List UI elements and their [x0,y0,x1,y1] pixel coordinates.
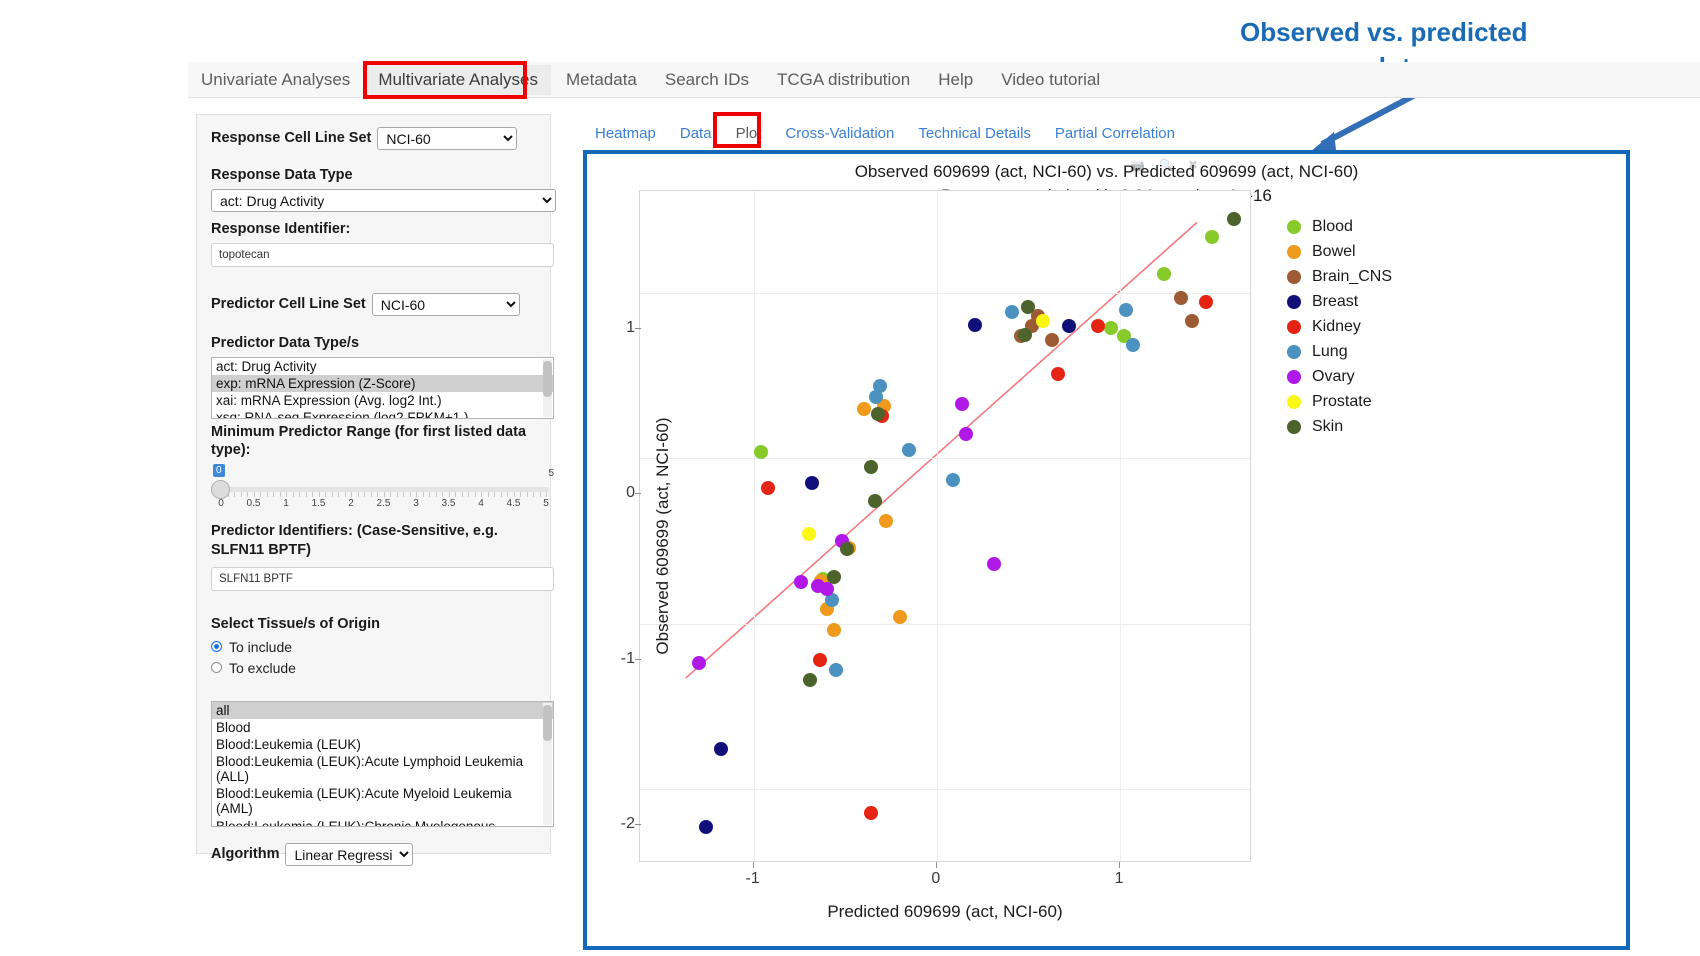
slider-tick-label: 1.5 [312,498,326,509]
scatter-point[interactable] [1185,314,1199,328]
legend-item-bowel[interactable]: Bowel [1287,239,1507,264]
y-axis-tick: 0 [626,484,635,502]
predictor-identifiers-input[interactable] [211,567,554,591]
scatter-point[interactable] [893,610,907,624]
y-axis-tickmark [635,493,641,494]
subtab-plot[interactable]: Plot [724,122,774,145]
scatter-point[interactable] [1157,267,1171,281]
chart-title: Observed 609699 (act, NCI-60) vs. Predic… [855,162,1359,181]
radio-to-include[interactable]: To include [211,639,536,655]
scatter-point[interactable] [803,673,817,687]
min-predictor-range-label: Minimum Predictor Range (for first liste… [211,423,536,461]
scatter-point[interactable] [1119,303,1133,317]
x-axis-tickmark [1119,862,1120,868]
scatter-point[interactable] [1045,333,1059,347]
legend-swatch [1287,370,1301,384]
legend-label: Bowel [1312,243,1356,261]
gridline-horizontal [640,293,1250,294]
legend-swatch [1287,295,1301,309]
x-axis-tick: 0 [931,870,940,888]
response-cell-line-set-label: Response Cell Line Set [211,129,371,148]
legend-swatch [1287,245,1301,259]
scatter-point[interactable] [1021,300,1035,314]
scatter-point[interactable] [1091,319,1105,333]
slider-tick-label: 3.5 [442,498,456,509]
legend-item-lung[interactable]: Lung [1287,339,1507,364]
nav-item-metadata[interactable]: Metadata [553,65,650,95]
subtab-partial-correlation[interactable]: Partial Correlation [1043,122,1187,145]
list-item[interactable]: all [212,702,553,719]
scatter-point[interactable] [794,575,808,589]
scatter-point[interactable] [955,397,969,411]
list-item[interactable]: act: Drug Activity [212,358,553,375]
scatter-point[interactable] [1036,314,1050,328]
nav-item-help[interactable]: Help [925,65,986,95]
subtab-data[interactable]: Data [668,122,724,145]
scatter-point[interactable] [754,445,768,459]
algorithm-select[interactable]: Linear Regression [285,843,413,866]
scatter-point[interactable] [827,570,841,584]
nav-item-univariate-analyses[interactable]: Univariate Analyses [188,65,363,95]
scatter-point[interactable] [1174,291,1188,305]
subtab-heatmap[interactable]: Heatmap [583,122,668,145]
radio-exclude-icon [211,662,222,673]
chart-legend[interactable]: BloodBowelBrain_CNSBreastKidneyLungOvary… [1287,214,1507,439]
scatter-point[interactable] [1205,230,1219,244]
scatter-point[interactable] [1062,319,1076,333]
slider-tick-label: 4 [478,498,484,509]
slider-tick-label: 1 [283,498,289,509]
slider-value-bubble: 0 [213,464,225,477]
scatter-point[interactable] [1227,212,1241,226]
radio-exclude-label: To exclude [229,660,296,676]
predictor-identifiers-label: Predictor Identifiers: (Case-Sensitive, … [211,522,536,560]
nav-item-search-ids[interactable]: Search IDs [652,65,762,95]
nav-item-multivariate-analyses[interactable]: Multivariate Analyses [365,65,551,95]
legend-item-brain_cns[interactable]: Brain_CNS [1287,264,1507,289]
scatter-point[interactable] [714,742,728,756]
legend-label: Skin [1312,418,1343,436]
radio-to-exclude[interactable]: To exclude [211,660,536,676]
y-axis-tick: -2 [621,815,635,833]
min-predictor-range-slider[interactable]: 0 5 00.511.522.533.544.55 [211,464,556,516]
scatter-point[interactable] [805,476,819,490]
list-item[interactable]: Blood:Leukemia (LEUK) [212,736,553,753]
scatter-point[interactable] [968,318,982,332]
scatter-point[interactable] [864,806,878,820]
legend-item-skin[interactable]: Skin [1287,414,1507,439]
gridline-horizontal [640,458,1250,459]
subtab-cross-validation[interactable]: Cross-Validation [773,122,906,145]
predictor-data-types-label: Predictor Data Type/s [211,334,536,353]
legend-item-kidney[interactable]: Kidney [1287,314,1507,339]
scatter-point[interactable] [827,623,841,637]
slider-tick-labels: 00.511.522.533.544.55 [211,498,556,512]
y-axis-tick: 1 [626,319,635,337]
scatter-point[interactable] [902,443,916,457]
legend-swatch [1287,270,1301,284]
legend-swatch [1287,345,1301,359]
gridline-vertical [937,191,938,861]
scatter-point[interactable] [1018,328,1032,342]
slider-tick-label: 5 [543,498,549,509]
x-axis-tickmark [936,862,937,868]
predictor-listbox-scrollbar[interactable] [543,359,552,417]
y-axis-tickmark [635,659,641,660]
gridline-vertical [1120,191,1121,861]
scatter-point[interactable] [1104,321,1118,335]
scatter-point[interactable] [813,653,827,667]
list-item[interactable]: xsq: RNA-seq Expression (log2 FPKM+1.) [212,409,553,419]
list-item[interactable]: exp: mRNA Expression (Z-Score) [212,375,553,392]
response-data-type-select[interactable]: act: Drug Activity [211,189,556,212]
scatter-point[interactable] [1126,338,1140,352]
regression-fit-line [640,191,1251,862]
scatter-point[interactable] [864,460,878,474]
scatter-point[interactable] [829,663,843,677]
scatter-point[interactable] [1005,305,1019,319]
scatter-point[interactable] [868,494,882,508]
scatter-point[interactable] [987,557,1001,571]
slider-tick-label: 2 [348,498,354,509]
y-axis-label: Observed 609699 (act, NCI-60) [653,256,673,816]
y-axis-tickmark [635,328,641,329]
nav-item-tcga-distribution[interactable]: TCGA distribution [764,65,923,95]
y-axis-tickmark [635,824,641,825]
chart-plot-area[interactable] [639,190,1251,862]
legend-item-ovary[interactable]: Ovary [1287,364,1507,389]
scatter-point[interactable] [946,473,960,487]
scatter-point[interactable] [871,407,885,421]
scatter-point[interactable] [699,820,713,834]
scatter-point[interactable] [761,481,775,495]
callout-line-1: Observed vs. predicted [1240,17,1528,47]
plot-subtabs[interactable]: HeatmapDataPlotCross-ValidationTechnical… [583,118,1143,148]
scatter-point[interactable] [869,390,883,404]
legend-item-blood[interactable]: Blood [1287,214,1507,239]
legend-swatch [1287,320,1301,334]
legend-item-breast[interactable]: Breast [1287,289,1507,314]
x-axis-tickmark [753,862,754,868]
legend-swatch [1287,395,1301,409]
slider-tick-label: 0 [218,498,224,509]
legend-swatch [1287,420,1301,434]
legend-item-prostate[interactable]: Prostate [1287,389,1507,414]
scatter-point[interactable] [692,656,706,670]
slider-tick-label: 2.5 [377,498,391,509]
list-item[interactable]: Blood:Leukemia (LEUK):Chronic Myelogenou… [212,818,553,827]
slider-tick-label: 3 [413,498,419,509]
scatter-point[interactable] [1051,367,1065,381]
scatter-point[interactable] [1199,295,1213,309]
response-identifier-input[interactable] [211,243,554,267]
legend-swatch [1287,220,1301,234]
scatter-point[interactable] [840,542,854,556]
predictor-data-type-listbox[interactable]: act: Drug Activityexp: mRNA Expression (… [211,357,554,419]
plot-panel: 📷 🔍 ✖ ⋮ Observed 609699 (act, NCI-60) vs… [583,150,1630,950]
response-data-type-label: Response Data Type [211,166,536,185]
legend-label: Prostate [1312,393,1372,411]
list-item[interactable]: Blood [212,719,553,736]
legend-label: Blood [1312,218,1353,236]
slider-max-label: 5 [548,468,554,479]
slider-tick-label: 0.5 [247,498,261,509]
legend-label: Lung [1312,343,1348,361]
slider-tick-label: 4.5 [507,498,521,509]
predictor-cell-line-set-select[interactable]: NCI-60 [372,293,520,316]
tissue-listbox[interactable]: allBloodBlood:Leukemia (LEUK)Blood:Leuke… [211,701,554,827]
legend-label: Breast [1312,293,1358,311]
scrollbar-thumb[interactable] [543,361,552,397]
legend-label: Brain_CNS [1312,268,1392,286]
x-axis-tick: 1 [1115,870,1124,888]
main-navigation[interactable]: Univariate AnalysesMultivariate Analyses… [188,62,1700,98]
list-item[interactable]: Blood:Leukemia (LEUK):Acute Lymphoid Leu… [212,753,553,785]
gridline-horizontal [640,789,1250,790]
scatter-point[interactable] [857,402,871,416]
x-axis-tick: -1 [745,870,759,888]
chart-axes: Observed 609699 (act, NCI-60) Predicted … [639,190,1251,862]
subtab-technical-details[interactable]: Technical Details [906,122,1043,145]
algorithm-label: Algorithm [211,845,279,864]
legend-label: Ovary [1312,368,1355,386]
scatter-point[interactable] [879,514,893,528]
gridline-horizontal [640,624,1250,625]
radio-include-icon [211,641,222,652]
predictor-cell-line-set-label: Predictor Cell Line Set [211,295,366,314]
tissue-listbox-scrollbar[interactable] [543,703,552,825]
radio-include-label: To include [229,639,292,655]
nav-item-video-tutorial[interactable]: Video tutorial [988,65,1113,95]
list-item[interactable]: xai: mRNA Expression (Avg. log2 Int.) [212,392,553,409]
scatter-point[interactable] [959,427,973,441]
response-cell-line-set-select[interactable]: NCI-60 [377,127,517,150]
legend-label: Kidney [1312,318,1361,336]
response-identifier-label: Response Identifier: [211,220,536,239]
scrollbar-thumb[interactable] [543,705,552,741]
x-axis-label: Predicted 609699 (act, NCI-60) [639,902,1251,922]
tissue-of-origin-label: Select Tissue/s of Origin [211,615,536,634]
list-item[interactable]: Blood:Leukemia (LEUK):Acute Myeloid Leuk… [212,785,553,817]
y-axis-tick: -1 [621,650,635,668]
controls-sidebar: Response Cell Line Set NCI-60 Response D… [196,114,551,854]
gridline-vertical [754,191,755,861]
scatter-point[interactable] [802,527,816,541]
